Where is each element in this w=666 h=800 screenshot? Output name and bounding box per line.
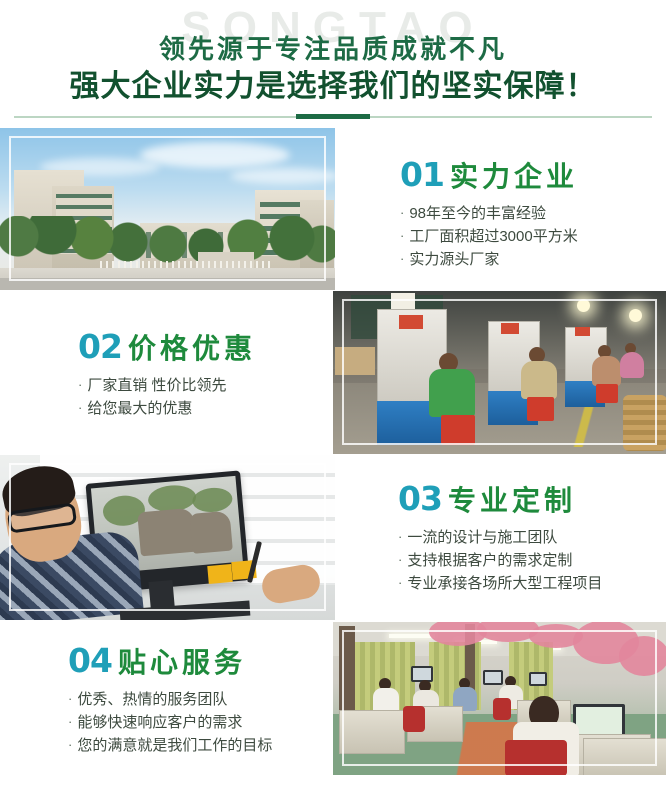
- machine-top-unit: [501, 323, 519, 334]
- bullet-text: 工厂面积超过3000平方米: [409, 226, 577, 249]
- list-item: ·支持根据客户的需求定制: [398, 550, 602, 573]
- office-chair: [505, 740, 567, 775]
- stool: [596, 384, 618, 403]
- bullet-text: 支持根据客户的需求定制: [407, 550, 572, 573]
- worker-body: [620, 352, 644, 378]
- promo-page: SONGTAO 领先源于专注品质成就不凡 强大企业实力是选择我们的坚实保障！ 0…: [0, 0, 666, 800]
- list-item: ·实力源头厂家: [400, 249, 578, 272]
- office-chair: [403, 706, 425, 732]
- bullet-text: 给您最大的优惠: [87, 398, 192, 421]
- wooden-barrel: [623, 395, 666, 451]
- list-item: ·优秀、热情的服务团队: [68, 689, 272, 712]
- monitor-screen: [413, 668, 431, 680]
- wall-poster: [391, 293, 415, 309]
- list-item: ·工厂面积超过3000平方米: [400, 226, 578, 249]
- bullet-dot-icon: ·: [68, 689, 72, 709]
- stool: [441, 415, 475, 445]
- section-number: 01: [400, 158, 444, 191]
- cloud-shape: [230, 168, 335, 184]
- list-item: ·一流的设计与施工团队: [398, 527, 602, 550]
- cloud-shape: [140, 142, 290, 168]
- monitor-screen: [531, 674, 545, 684]
- section-heading: 03 专业定制: [398, 482, 602, 515]
- section-title: 价格优惠: [128, 335, 256, 363]
- section-bullet-list: ·优秀、热情的服务团队 ·能够快速响应客户的需求 ·您的满意就是我们工作的目标: [68, 689, 272, 757]
- bullet-dot-icon: ·: [400, 226, 404, 246]
- screen-artwork-foliage: [191, 486, 233, 513]
- monitor-screen: [576, 707, 622, 737]
- page-header: SONGTAO 领先源于专注品质成就不凡 强大企业实力是选择我们的坚实保障！: [0, 0, 666, 128]
- section-number: 04: [68, 644, 112, 677]
- bullet-dot-icon: ·: [400, 203, 404, 223]
- screen-artwork-rockery: [190, 511, 233, 554]
- section-panel-02: 02 价格优惠 ·厂家直销 性价比领先 ·给您最大的优惠: [78, 330, 256, 421]
- cardboard-boxes: [335, 347, 375, 375]
- bullet-text: 实力源头厂家: [409, 249, 499, 272]
- section-number: 02: [78, 330, 122, 363]
- bullet-dot-icon: ·: [398, 527, 402, 547]
- bullet-text: 优秀、热情的服务团队: [77, 689, 227, 712]
- list-item: ·给您最大的优惠: [78, 398, 256, 421]
- bullet-text: 一流的设计与施工团队: [407, 527, 557, 550]
- bullet-text: 98年至今的丰富经验: [409, 203, 546, 226]
- header-subtitle: 领先源于专注品质成就不凡: [0, 33, 666, 66]
- photo-production-line: [333, 291, 666, 454]
- worker-body: [429, 369, 475, 417]
- ceiling-lamp: [577, 299, 590, 312]
- section-title: 贴心服务: [118, 649, 246, 677]
- cherry-blossom-decor: [619, 636, 666, 676]
- bullet-text: 厂家直销 性价比领先: [87, 375, 226, 398]
- ceiling-lamp: [629, 309, 642, 322]
- photo-factory-building: [0, 128, 335, 290]
- section-panel-04: 04 贴心服务 ·优秀、热情的服务团队 ·能够快速响应客户的需求 ·您的满意就是…: [68, 644, 272, 757]
- office-desk: [339, 710, 405, 754]
- bullet-text: 您的满意就是我们工作的目标: [77, 735, 272, 758]
- office-desk: [583, 738, 666, 775]
- header-divider: [14, 113, 652, 121]
- monitor-screen: [485, 672, 501, 683]
- section-panel-03: 03 专业定制 ·一流的设计与施工团队 ·支持根据客户的需求定制 ·专业承接各场…: [398, 482, 602, 595]
- section-bullet-list: ·一流的设计与施工团队 ·支持根据客户的需求定制 ·专业承接各场所大型工程项目: [398, 527, 602, 595]
- photo-office-workspace: [333, 622, 666, 775]
- section-number: 03: [398, 482, 442, 515]
- bullet-dot-icon: ·: [78, 398, 82, 418]
- section-heading: 02 价格优惠: [78, 330, 256, 363]
- bullet-text: 专业承接各场所大型工程项目: [407, 573, 602, 596]
- ceiling-light: [389, 634, 435, 638]
- section-bullet-list: ·厂家直销 性价比领先 ·给您最大的优惠: [78, 375, 256, 421]
- decor-tree-trunk: [339, 626, 355, 712]
- section-panel-01: 01 实力企业 ·98年至今的丰富经验 ·工厂面积超过3000平方米 ·实力源头…: [400, 158, 578, 271]
- bullet-dot-icon: ·: [400, 249, 404, 269]
- bullet-dot-icon: ·: [68, 735, 72, 755]
- section-heading: 01 实力企业: [400, 158, 578, 191]
- worker-body: [592, 356, 621, 386]
- section-bullet-list: ·98年至今的丰富经验 ·工厂面积超过3000平方米 ·实力源头厂家: [400, 203, 578, 271]
- screen-artwork-rockery: [137, 508, 197, 557]
- section-heading: 04 贴心服务: [68, 644, 272, 677]
- section-title: 实力企业: [450, 163, 578, 191]
- list-item: ·专业承接各场所大型工程项目: [398, 573, 602, 596]
- road: [0, 278, 335, 290]
- list-item: ·厂家直销 性价比领先: [78, 375, 256, 398]
- bullet-dot-icon: ·: [398, 573, 402, 593]
- bullet-dot-icon: ·: [68, 712, 72, 732]
- section-title: 专业定制: [448, 487, 576, 515]
- sticky-note: [207, 564, 232, 584]
- machine-top-unit: [399, 315, 423, 329]
- photo-designer-workstation: [0, 455, 335, 620]
- bullet-text: 能够快速响应客户的需求: [77, 712, 242, 735]
- stool: [527, 397, 554, 421]
- header-title: 强大企业实力是选择我们的坚实保障！: [0, 68, 666, 106]
- bullet-dot-icon: ·: [398, 550, 402, 570]
- bullet-dot-icon: ·: [78, 375, 82, 395]
- office-chair: [493, 698, 511, 720]
- worker-body: [521, 361, 557, 399]
- list-item: ·98年至今的丰富经验: [400, 203, 578, 226]
- machine-top-unit: [575, 327, 590, 336]
- list-item: ·能够快速响应客户的需求: [68, 712, 272, 735]
- list-item: ·您的满意就是我们工作的目标: [68, 735, 272, 758]
- divider-accent: [296, 114, 370, 119]
